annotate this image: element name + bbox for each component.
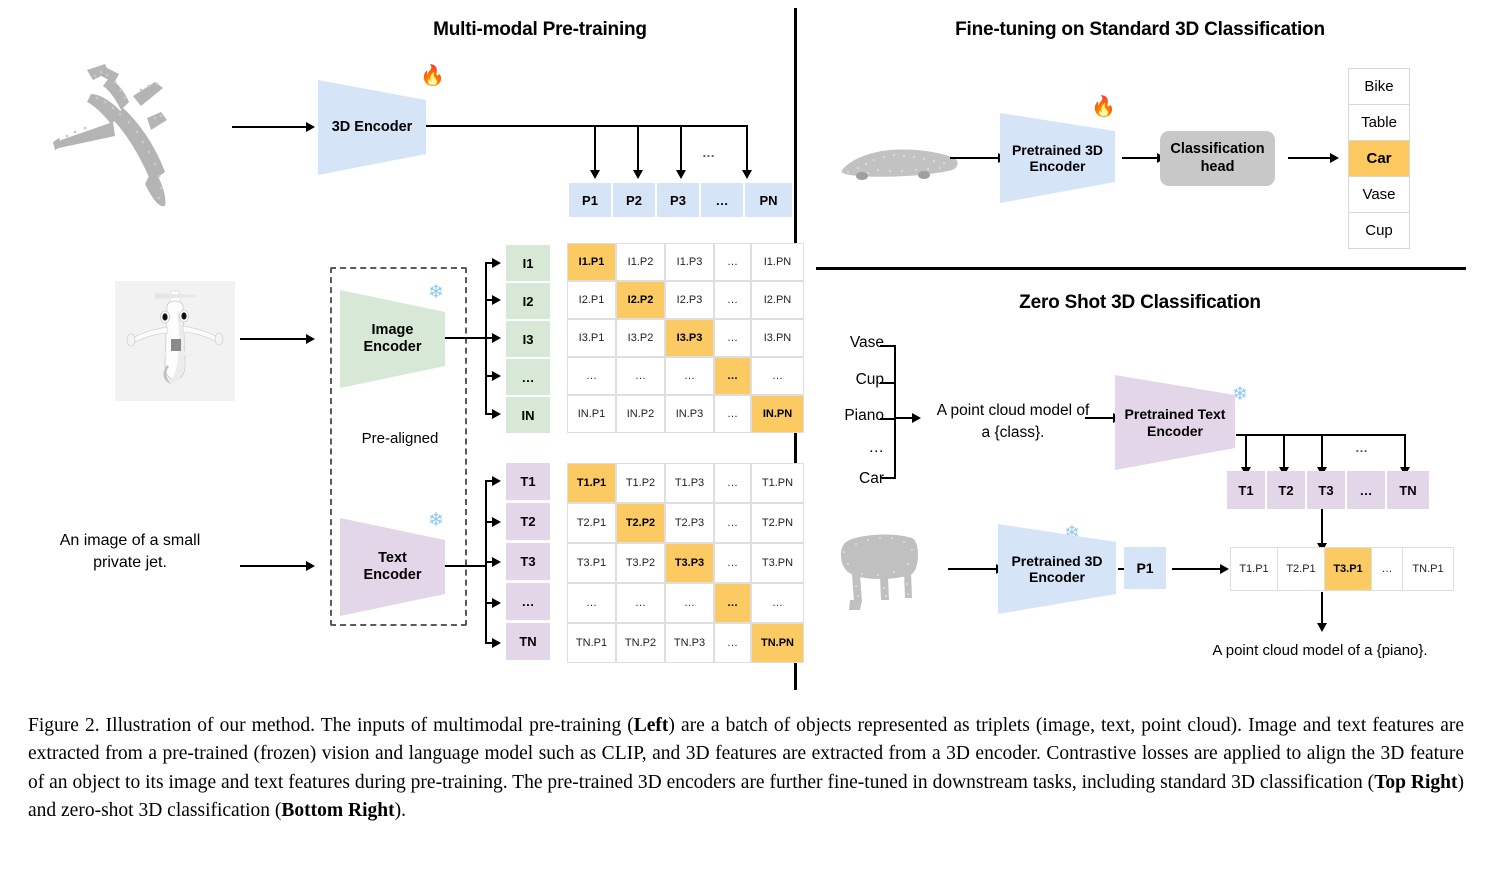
similarity-cell[interactable]: …	[714, 281, 751, 319]
similarity-cell[interactable]: I2.P3	[665, 281, 714, 319]
similarity-cell[interactable]: …	[567, 357, 616, 395]
similarity-cell[interactable]: …	[751, 357, 804, 395]
class-brace-tick	[880, 382, 896, 384]
zeroshot-t-cell[interactable]: TN	[1387, 471, 1429, 509]
encoder-3d-label: 3D Encoder	[332, 119, 413, 136]
bus-drop-tn	[1404, 434, 1406, 469]
arrow-head	[1220, 564, 1229, 574]
arrow-head	[1330, 153, 1339, 163]
similarity-cell[interactable]: T1.PN	[751, 463, 804, 503]
similarity-cell[interactable]: …	[714, 357, 751, 395]
similarity-cell[interactable]: I2.P2	[616, 281, 665, 319]
similarity-cell[interactable]: I1.PN	[751, 243, 804, 281]
classification-head-line1: Classification	[1170, 141, 1264, 157]
p-cell[interactable]: P1	[569, 183, 611, 217]
t-cell[interactable]: TN	[506, 623, 550, 660]
arrow-head	[742, 170, 752, 179]
similarity-cell[interactable]: TN.P3	[665, 623, 714, 663]
i-cell[interactable]: IN	[506, 397, 550, 433]
similarity-cell[interactable]: …	[714, 583, 751, 623]
i-cell[interactable]: I3	[506, 321, 550, 357]
similarity-cell[interactable]: …	[714, 319, 751, 357]
zeroshot-similarity-cell[interactable]: T1.P1	[1230, 547, 1278, 591]
p-cell[interactable]: …	[701, 183, 743, 217]
arrow-head	[492, 333, 501, 343]
text-encoder-out	[443, 565, 485, 567]
bus-ellipsis: …	[702, 145, 715, 160]
arrow-head	[492, 557, 501, 567]
zeroshot-similarity-cell[interactable]: T2.P1	[1277, 547, 1325, 591]
similarity-cell[interactable]: …	[751, 583, 804, 623]
class-option[interactable]: Bike	[1348, 68, 1410, 105]
horizontal-divider	[816, 267, 1466, 270]
encoder-3d-block[interactable]: 3D Encoder	[318, 80, 426, 175]
text-input-line2: private jet.	[93, 554, 167, 571]
similarity-cell[interactable]: …	[616, 583, 665, 623]
t-cell[interactable]: T1	[506, 463, 550, 500]
similarity-cell[interactable]: T2.P3	[665, 503, 714, 543]
i-cell[interactable]: I2	[506, 283, 550, 319]
similarity-cell[interactable]: T2.P1	[567, 503, 616, 543]
similarity-cell[interactable]: IN.PN	[751, 395, 804, 433]
similarity-cell[interactable]: …	[714, 543, 751, 583]
similarity-cell[interactable]: T1.P1	[567, 463, 616, 503]
i-vector-column: I1 I2 I3 … IN	[506, 245, 550, 433]
piano-point-cloud	[828, 520, 938, 620]
arrow-piano-to-encoder	[948, 568, 996, 570]
panel-title-bottom-right: Zero Shot 3D Classification	[820, 292, 1460, 314]
image-encoder-label-line1: Image	[372, 322, 414, 338]
arrow-head	[676, 170, 686, 179]
zeroshot-similarity-row: T1.P1T2.P1T3.P1…TN.P1	[1230, 547, 1454, 591]
image-encoder-block[interactable]: Image Encoder	[340, 290, 445, 388]
similarity-cell[interactable]: T2.P2	[616, 503, 665, 543]
zeroshot-similarity-cell[interactable]: …	[1371, 547, 1403, 591]
panel-title-top-right: Fine-tuning on Standard 3D Classificatio…	[820, 19, 1460, 41]
i-cell[interactable]: I1	[506, 245, 550, 281]
bus-drop-p2	[637, 125, 639, 172]
text-input-line1: An image of a small	[60, 532, 201, 549]
class-brace-tick	[880, 345, 896, 347]
airplane-point-cloud	[25, 48, 225, 228]
similarity-cell[interactable]: I1.P1	[567, 243, 616, 281]
similarity-cell[interactable]: …	[714, 623, 751, 663]
similarity-cell[interactable]: T3.P1	[567, 543, 616, 583]
pretrained-3d-encoder-line1: Pretrained 3D	[1012, 142, 1103, 158]
classification-head-block[interactable]: Classification head	[1160, 131, 1275, 186]
similarity-cell[interactable]: TN.PN	[751, 623, 804, 663]
t-vector-column: T1 T2 T3 … TN	[506, 463, 550, 660]
car-point-cloud	[828, 130, 968, 190]
figure-canvas: Multi-modal Pre-training	[0, 0, 1490, 700]
zeroshot-result-text: A point cloud model of a {piano}.	[1160, 642, 1480, 659]
prompt-line1: A point cloud model of	[937, 402, 1090, 419]
class-option[interactable]: Car	[1348, 140, 1410, 177]
arrow-head	[492, 258, 501, 268]
airplane-render-image	[115, 281, 235, 401]
similarity-cell[interactable]: …	[714, 395, 751, 433]
class-option[interactable]: Table	[1348, 104, 1410, 141]
zeroshot-class-label: Car	[822, 470, 884, 488]
text-encoder-label-line1: Text	[378, 550, 407, 566]
similarity-cell[interactable]: I2.PN	[751, 281, 804, 319]
arrow-t-to-sim	[1321, 509, 1323, 545]
class-brace-vertical	[894, 345, 896, 478]
zeroshot-class-label: Piano	[822, 407, 884, 425]
similarity-cell[interactable]: I3.P3	[665, 319, 714, 357]
arrow-pointcloud-to-3dencoder	[232, 126, 306, 128]
pretrained-3d-encoder-block-zeroshot[interactable]: Pretrained 3D Encoder	[998, 524, 1116, 614]
similarity-cell[interactable]: I3.P1	[567, 319, 616, 357]
similarity-cell[interactable]: …	[714, 503, 751, 543]
arrow-head	[492, 295, 501, 305]
t-cell[interactable]: T3	[506, 543, 550, 580]
similarity-cell[interactable]: IN.P2	[616, 395, 665, 433]
zeroshot-p-cell[interactable]: P1	[1124, 547, 1166, 589]
similarity-cell[interactable]: T3.P3	[665, 543, 714, 583]
arrow-head	[306, 561, 315, 571]
similarity-cell[interactable]: T3.P2	[616, 543, 665, 583]
finetune-class-list: BikeTableCarVaseCup	[1348, 69, 1410, 249]
similarity-cell[interactable]: T2.PN	[751, 503, 804, 543]
p-cell[interactable]: PN	[745, 183, 792, 217]
similarity-cell[interactable]: TN.P2	[616, 623, 665, 663]
similarity-cell[interactable]: I2.P1	[567, 281, 616, 319]
pretrained-3d-encoder-zs-line2: Encoder	[1029, 569, 1085, 585]
bus-line-3d	[426, 125, 748, 127]
pretrained-3d-encoder-zs-line1: Pretrained 3D	[1011, 553, 1102, 569]
image-encoder-out	[443, 337, 485, 339]
similarity-cell[interactable]: I1.P3	[665, 243, 714, 281]
caption-bold: Bottom Right	[281, 800, 394, 821]
bus-ellipsis-zeroshot: …	[1355, 440, 1368, 455]
arrow-head	[306, 122, 315, 132]
arrow-head	[492, 409, 501, 419]
arrow-head	[590, 170, 600, 179]
zeroshot-class-label: Vase	[822, 334, 884, 352]
zeroshot-t-cell[interactable]: T2	[1267, 471, 1305, 509]
pre-aligned-label: Pre-aligned	[345, 430, 455, 447]
similarity-cell[interactable]: T1.P3	[665, 463, 714, 503]
arrow-head	[492, 476, 501, 486]
arrow-classes-to-prompt	[894, 417, 914, 419]
bus-drop-p1	[594, 125, 596, 172]
t-cell[interactable]: T2	[506, 503, 550, 540]
similarity-cell[interactable]: I1.P2	[616, 243, 665, 281]
bus-drop-t2	[1283, 434, 1285, 469]
similarity-cell[interactable]: T1.P2	[616, 463, 665, 503]
similarity-cell[interactable]: …	[714, 463, 751, 503]
text-point-similarity-matrix: T1.P1T1.P2T1.P3…T1.PNT2.P1T2.P2T2.P3…T2.…	[567, 463, 804, 663]
similarity-cell[interactable]: IN.P3	[665, 395, 714, 433]
similarity-cell[interactable]: IN.P1	[567, 395, 616, 433]
caption-bold: Left	[634, 715, 669, 736]
class-option[interactable]: Vase	[1348, 176, 1410, 213]
prompt-line2: a {class}.	[982, 424, 1045, 441]
zeroshot-t-cell[interactable]: …	[1347, 471, 1385, 509]
caption-bold: Top Right	[1374, 772, 1457, 793]
figure-caption: Figure 2. Illustration of our method. Th…	[28, 712, 1464, 825]
similarity-cell[interactable]: …	[616, 357, 665, 395]
zeroshot-class-label: …	[822, 439, 884, 457]
arrow-head	[1317, 623, 1327, 632]
arrow-head	[492, 517, 501, 527]
class-brace-tick	[880, 477, 896, 479]
prompt-template: A point cloud model of a {class}.	[918, 400, 1108, 443]
text-encoder-label-line2: Encoder	[363, 567, 421, 583]
caption-text: Figure 2. Illustration of our method. Th…	[28, 715, 634, 736]
image-point-similarity-matrix: I1.P1I1.P2I1.P3…I1.PNI2.P1I2.P2I2.P3…I2.…	[567, 243, 804, 433]
zeroshot-similarity-cell[interactable]: T3.P1	[1324, 547, 1372, 591]
zeroshot-t-cell[interactable]: T1	[1227, 471, 1265, 509]
zeroshot-class-label: Cup	[822, 371, 884, 389]
similarity-cell[interactable]: TN.P1	[567, 623, 616, 663]
similarity-cell[interactable]: …	[567, 583, 616, 623]
similarity-cell[interactable]: …	[665, 357, 714, 395]
arrow-image-to-imageencoder	[240, 338, 306, 340]
arrow-prompt-out	[1085, 417, 1113, 419]
zeroshot-t-cell[interactable]: T3	[1307, 471, 1345, 509]
text-input-caption: An image of a small private jet.	[30, 530, 230, 573]
bus-drop-t3	[1321, 434, 1323, 469]
similarity-cell[interactable]: …	[714, 243, 751, 281]
bus-drop-pn	[746, 125, 748, 172]
similarity-cell[interactable]: I3.P2	[616, 319, 665, 357]
arrow-head	[492, 598, 501, 608]
arrow-head	[306, 334, 315, 344]
similarity-cell[interactable]: …	[665, 583, 714, 623]
zeroshot-similarity-cell[interactable]: TN.P1	[1402, 547, 1454, 591]
classification-head-line2: head	[1201, 159, 1235, 175]
arrow-head	[492, 638, 501, 648]
i-cell[interactable]: …	[506, 359, 550, 395]
pretrained-text-encoder-line2: Encoder	[1147, 423, 1203, 439]
bus-drop-p3	[680, 125, 682, 172]
pretrained-text-encoder-block[interactable]: Pretrained Text Encoder	[1115, 375, 1235, 470]
similarity-cell[interactable]: I3.PN	[751, 319, 804, 357]
arrow-p1-to-sim	[1172, 568, 1220, 570]
image-encoder-label-line2: Encoder	[363, 339, 421, 355]
zeroshot-t-vector-row: T1T2T3…TN	[1227, 471, 1429, 509]
pretrained-text-encoder-line1: Pretrained Text	[1125, 406, 1226, 422]
caption-text: ).	[395, 800, 406, 821]
p-cell[interactable]: P2	[613, 183, 655, 217]
arrow-head	[633, 170, 643, 179]
panel-title-left: Multi-modal Pre-training	[280, 19, 800, 41]
similarity-cell[interactable]: T3.PN	[751, 543, 804, 583]
class-option[interactable]: Cup	[1348, 212, 1410, 249]
p-vector-row: P1 P2 P3 … PN	[569, 183, 792, 217]
text-encoder-block[interactable]: Text Encoder	[340, 518, 445, 616]
bus-drop-t1	[1245, 434, 1247, 469]
arrow-car-to-encoder	[950, 157, 998, 159]
arrow-head	[492, 371, 501, 381]
pretrained-3d-encoder-line2: Encoder	[1029, 158, 1085, 174]
p-cell[interactable]: P3	[657, 183, 699, 217]
pretrained-3d-encoder-block-finetune[interactable]: Pretrained 3D Encoder	[1000, 113, 1115, 203]
t-cell[interactable]: …	[506, 583, 550, 620]
arrow-encoder-to-head	[1122, 157, 1157, 159]
arrow-head-to-classes	[1288, 157, 1330, 159]
arrow-sim-to-result	[1321, 592, 1323, 625]
arrow-text-to-textencoder	[240, 565, 306, 567]
